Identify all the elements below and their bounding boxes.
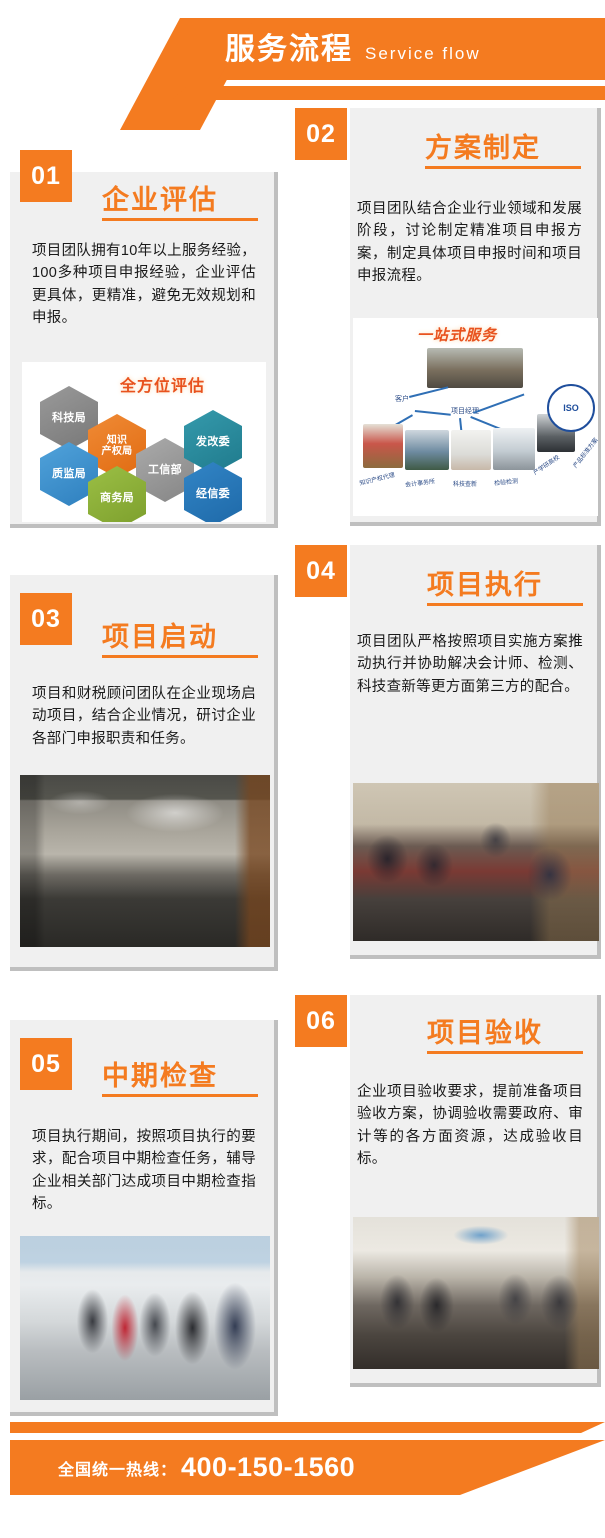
step-card-02: 02 方案制定 项目团队结合企业行业领域和发展阶段，讨论制定精准项目申报方案，制… [295, 108, 605, 530]
step-title-rule-01 [102, 218, 258, 221]
service-flow-node-label: 科技查新 [453, 479, 477, 488]
infographic-page: 服务流程 Service flow 01 企业评估 项目团队拥有10年以上服务经… [0, 0, 605, 1538]
step-card-03: 03 项目启动 项目和财税顾问团队在企业现场启动项目，结合企业情况，研讨企业各部… [10, 575, 282, 975]
service-flow-label-customer: 客户 [395, 394, 409, 404]
service-flow-node-photo [363, 424, 403, 468]
hotline-number[interactable]: 400-150-1560 [181, 1452, 355, 1483]
hexagon-node-label: 科技局 [52, 412, 86, 425]
step-title-02: 方案制定 [425, 126, 541, 165]
service-flow-node-photo [493, 428, 535, 470]
step-card-05: 05 中期检查 项目执行期间，按照项目执行的要求，配合项目中期检查任务，辅导企业… [10, 1020, 282, 1420]
step-photo-05 [20, 1236, 270, 1400]
page-footer: 全国统一热线： 400-150-1560 [0, 1418, 605, 1538]
service-flow-center-photo [427, 348, 523, 388]
hexagon-node-label: 发改委 [196, 436, 230, 449]
hotline: 全国统一热线： 400-150-1560 [58, 1440, 355, 1495]
service-flow-node-label: 产学研高校 [531, 452, 561, 476]
hexagon-chart-title: 全方位评估 [120, 372, 205, 396]
step-photo-06 [353, 1217, 599, 1369]
step-number-badge-04: 04 [295, 545, 347, 597]
step-title-rule-04 [427, 603, 583, 606]
step-number-badge-03: 03 [20, 593, 72, 645]
step-title-05: 中期检查 [102, 1054, 218, 1093]
step-desc-03: 项目和财税顾问团队在企业现场启动项目，结合企业情况，研讨企业各部门申报职责和任务… [32, 683, 256, 750]
step-desc-06: 企业项目验收要求，提前准备项目验收方案，协调验收需要政府、审计等的各方面资源，达… [357, 1081, 583, 1171]
service-flow-node-label: 知识产权代理 [358, 470, 395, 487]
step-title-rule-06 [427, 1051, 583, 1054]
step-title-rule-03 [102, 655, 258, 658]
header-band-thin [0, 86, 605, 100]
service-flow-arrow [473, 394, 524, 414]
step-title-rule-02 [425, 166, 581, 169]
service-flow-node-photo [405, 430, 449, 470]
step-photo-03 [20, 775, 270, 947]
service-flow-title: 一站式服务 [417, 324, 497, 345]
service-flow-graphic: 一站式服务 客户 项目经理 ISO 知识产权代理 会计事务所 科技查新 检验检测… [353, 318, 598, 516]
service-flow-seal-icon: ISO [547, 384, 595, 432]
step-title-06: 项目验收 [427, 1011, 543, 1050]
step-card-04: 04 项目执行 项目团队严格按照项目实施方案推动执行并协助解决会计师、检测、科技… [295, 545, 605, 963]
step-number-badge-02: 02 [295, 108, 347, 160]
service-flow-arrow [415, 410, 451, 415]
service-flow-seal-text: ISO [563, 403, 579, 413]
step-number-badge-01: 01 [20, 150, 72, 202]
step-number-badge-05: 05 [20, 1038, 72, 1090]
step-title-01: 企业评估 [102, 178, 218, 217]
page-title-en: Service flow [365, 44, 481, 64]
hexagon-node-label: 质监局 [52, 468, 86, 481]
service-flow-node-photo [451, 430, 491, 470]
step-title-04: 项目执行 [427, 563, 543, 602]
step-photo-04 [353, 783, 599, 941]
hexagon-node-label: 经信委 [196, 488, 230, 501]
hexagon-chart: 全方位评估 科技局 知识 产权局 质监局 工信部 商务局 发改委 经信委 [22, 362, 266, 522]
hotline-label: 全国统一热线： [58, 1456, 177, 1480]
page-title-cn: 服务流程 [225, 28, 353, 72]
step-desc-04: 项目团队严格按照项目实施方案推动执行并协助解决会计师、检测、科技查新等更方面第三… [357, 631, 583, 698]
hexagon-node-label: 知识 产权局 [102, 435, 133, 458]
service-flow-node-label: 会计事务所 [405, 476, 436, 489]
step-card-06: 06 项目验收 企业项目验收要求，提前准备项目验收方案，协调验收需要政府、审计等… [295, 995, 605, 1391]
hexagon-node-label: 商务局 [100, 492, 134, 505]
page-title: 服务流程 Service flow [225, 28, 481, 72]
footer-band-thin [10, 1422, 605, 1433]
step-title-rule-05 [102, 1094, 258, 1097]
step-title-03: 项目启动 [102, 615, 218, 654]
service-flow-node-label: 检验检测 [494, 476, 519, 487]
hexagon-node-label: 工信部 [148, 464, 182, 477]
step-desc-05: 项目执行期间，按照项目执行的要求，配合项目中期检查任务，辅导企业相关部门达成项目… [32, 1126, 256, 1216]
step-number-badge-06: 06 [295, 995, 347, 1047]
step-card-01: 01 企业评估 项目团队拥有10年以上服务经验，100多种项目申报经验，企业评估… [10, 150, 282, 530]
step-desc-02: 项目团队结合企业行业领域和发展阶段，讨论制定精准项目申报方案，制定具体项目申报时… [357, 198, 582, 288]
page-header: 服务流程 Service flow [0, 0, 605, 120]
step-desc-01: 项目团队拥有10年以上服务经验，100多种项目申报经验，企业评估更具体，更精准，… [32, 240, 256, 330]
